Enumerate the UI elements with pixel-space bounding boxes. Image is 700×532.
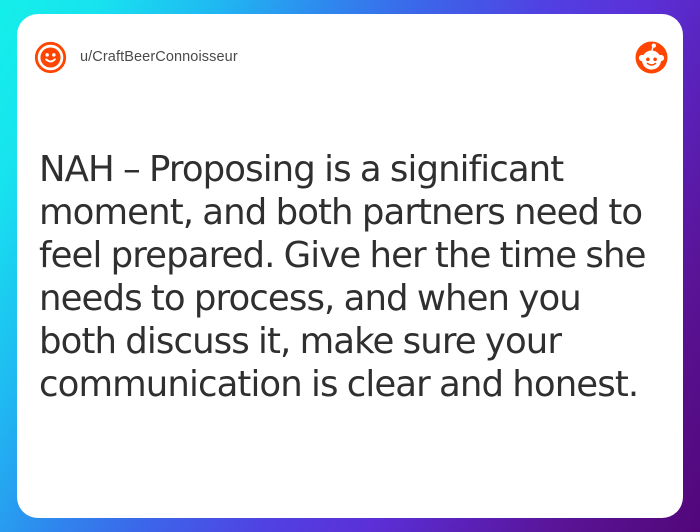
avatar [34,41,67,74]
post-text: NAH – Proposing is a significant moment,… [39,148,655,406]
post-body: NAH – Proposing is a significant moment,… [39,148,655,406]
reddit-snoo-icon [635,41,668,74]
reddit-post-card: u/CraftBeerConnoisseur NAH – Proposing i… [17,14,683,518]
username-label: u/CraftBeerConnoisseur [80,49,238,65]
post-header: u/CraftBeerConnoisseur [17,14,683,100]
